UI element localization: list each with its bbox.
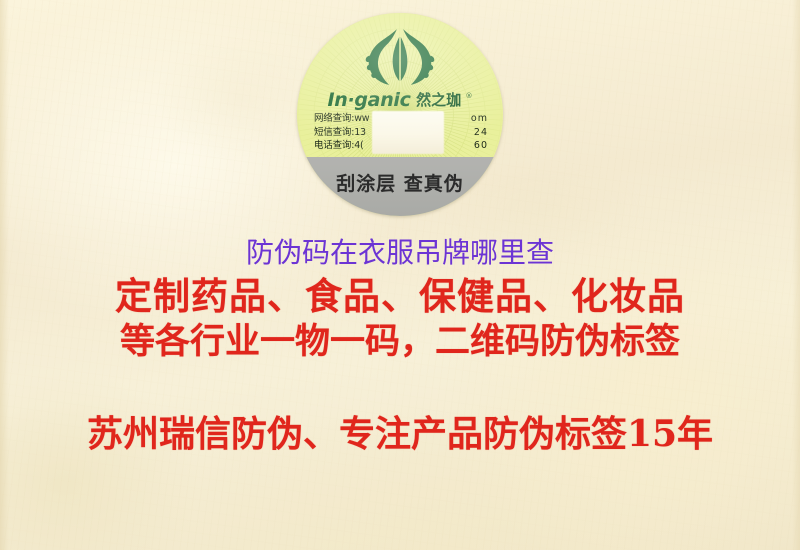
promo-text-line-2: 等各行业一物一码，二维码防伪标签 (0, 313, 800, 364)
redacted-contact-area (372, 111, 444, 154)
security-label-circle: In·ganic 然之珈 ® 网络查询: ww om 短信查询: 13 24 电… (297, 13, 503, 216)
query-tail-web: om (471, 112, 488, 126)
security-label: In·ganic 然之珈 ® 网络查询: ww om 短信查询: 13 24 电… (297, 13, 503, 216)
promo-image-canvas: In·ganic 然之珈 ® 网络查询: ww om 短信查询: 13 24 电… (0, 0, 800, 550)
query-label-web: 网络查询: (314, 112, 354, 126)
promo-text-line-1: 定制药品、食品、保健品、化妆品 (0, 266, 800, 320)
brand-latin-text: In·ganic (327, 89, 410, 111)
brand-cjk-text: 然之珈 (416, 91, 461, 109)
promo-text-line-3: 苏州瑞信防伪、专注产品防伪标签15年 (0, 405, 800, 457)
query-label-sms: 短信查询: (314, 126, 354, 140)
query-tail-phone: 60 (474, 139, 488, 153)
scratch-off-label: 刮涂层 查真伪 (297, 169, 503, 196)
page-title: 防伪码在衣服吊牌哪里查 (0, 231, 800, 271)
brand-name: In·ganic 然之珈 ® (297, 89, 503, 111)
query-label-phone: 电话查询: (314, 139, 354, 153)
registered-trademark-icon: ® (466, 92, 473, 100)
query-tail-sms: 24 (474, 126, 488, 140)
scratch-off-band[interactable]: 刮涂层 查真伪 (297, 157, 503, 216)
leaf-faces-logo-icon (361, 26, 439, 88)
